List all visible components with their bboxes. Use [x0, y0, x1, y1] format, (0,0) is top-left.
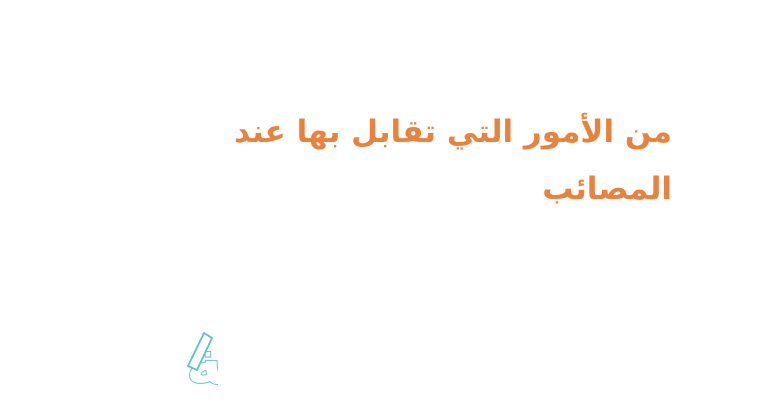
brand-logo-svg: موسوعة [8, 316, 218, 398]
headline-block: من الأمور التي تقابل بها عند المصائب [212, 104, 672, 218]
article-title-card: من الأمور التي تقابل بها عند المصائب موس… [0, 0, 781, 404]
page-title: من الأمور التي تقابل بها عند المصائب [212, 104, 672, 218]
brand-logo[interactable]: موسوعة [8, 316, 218, 398]
